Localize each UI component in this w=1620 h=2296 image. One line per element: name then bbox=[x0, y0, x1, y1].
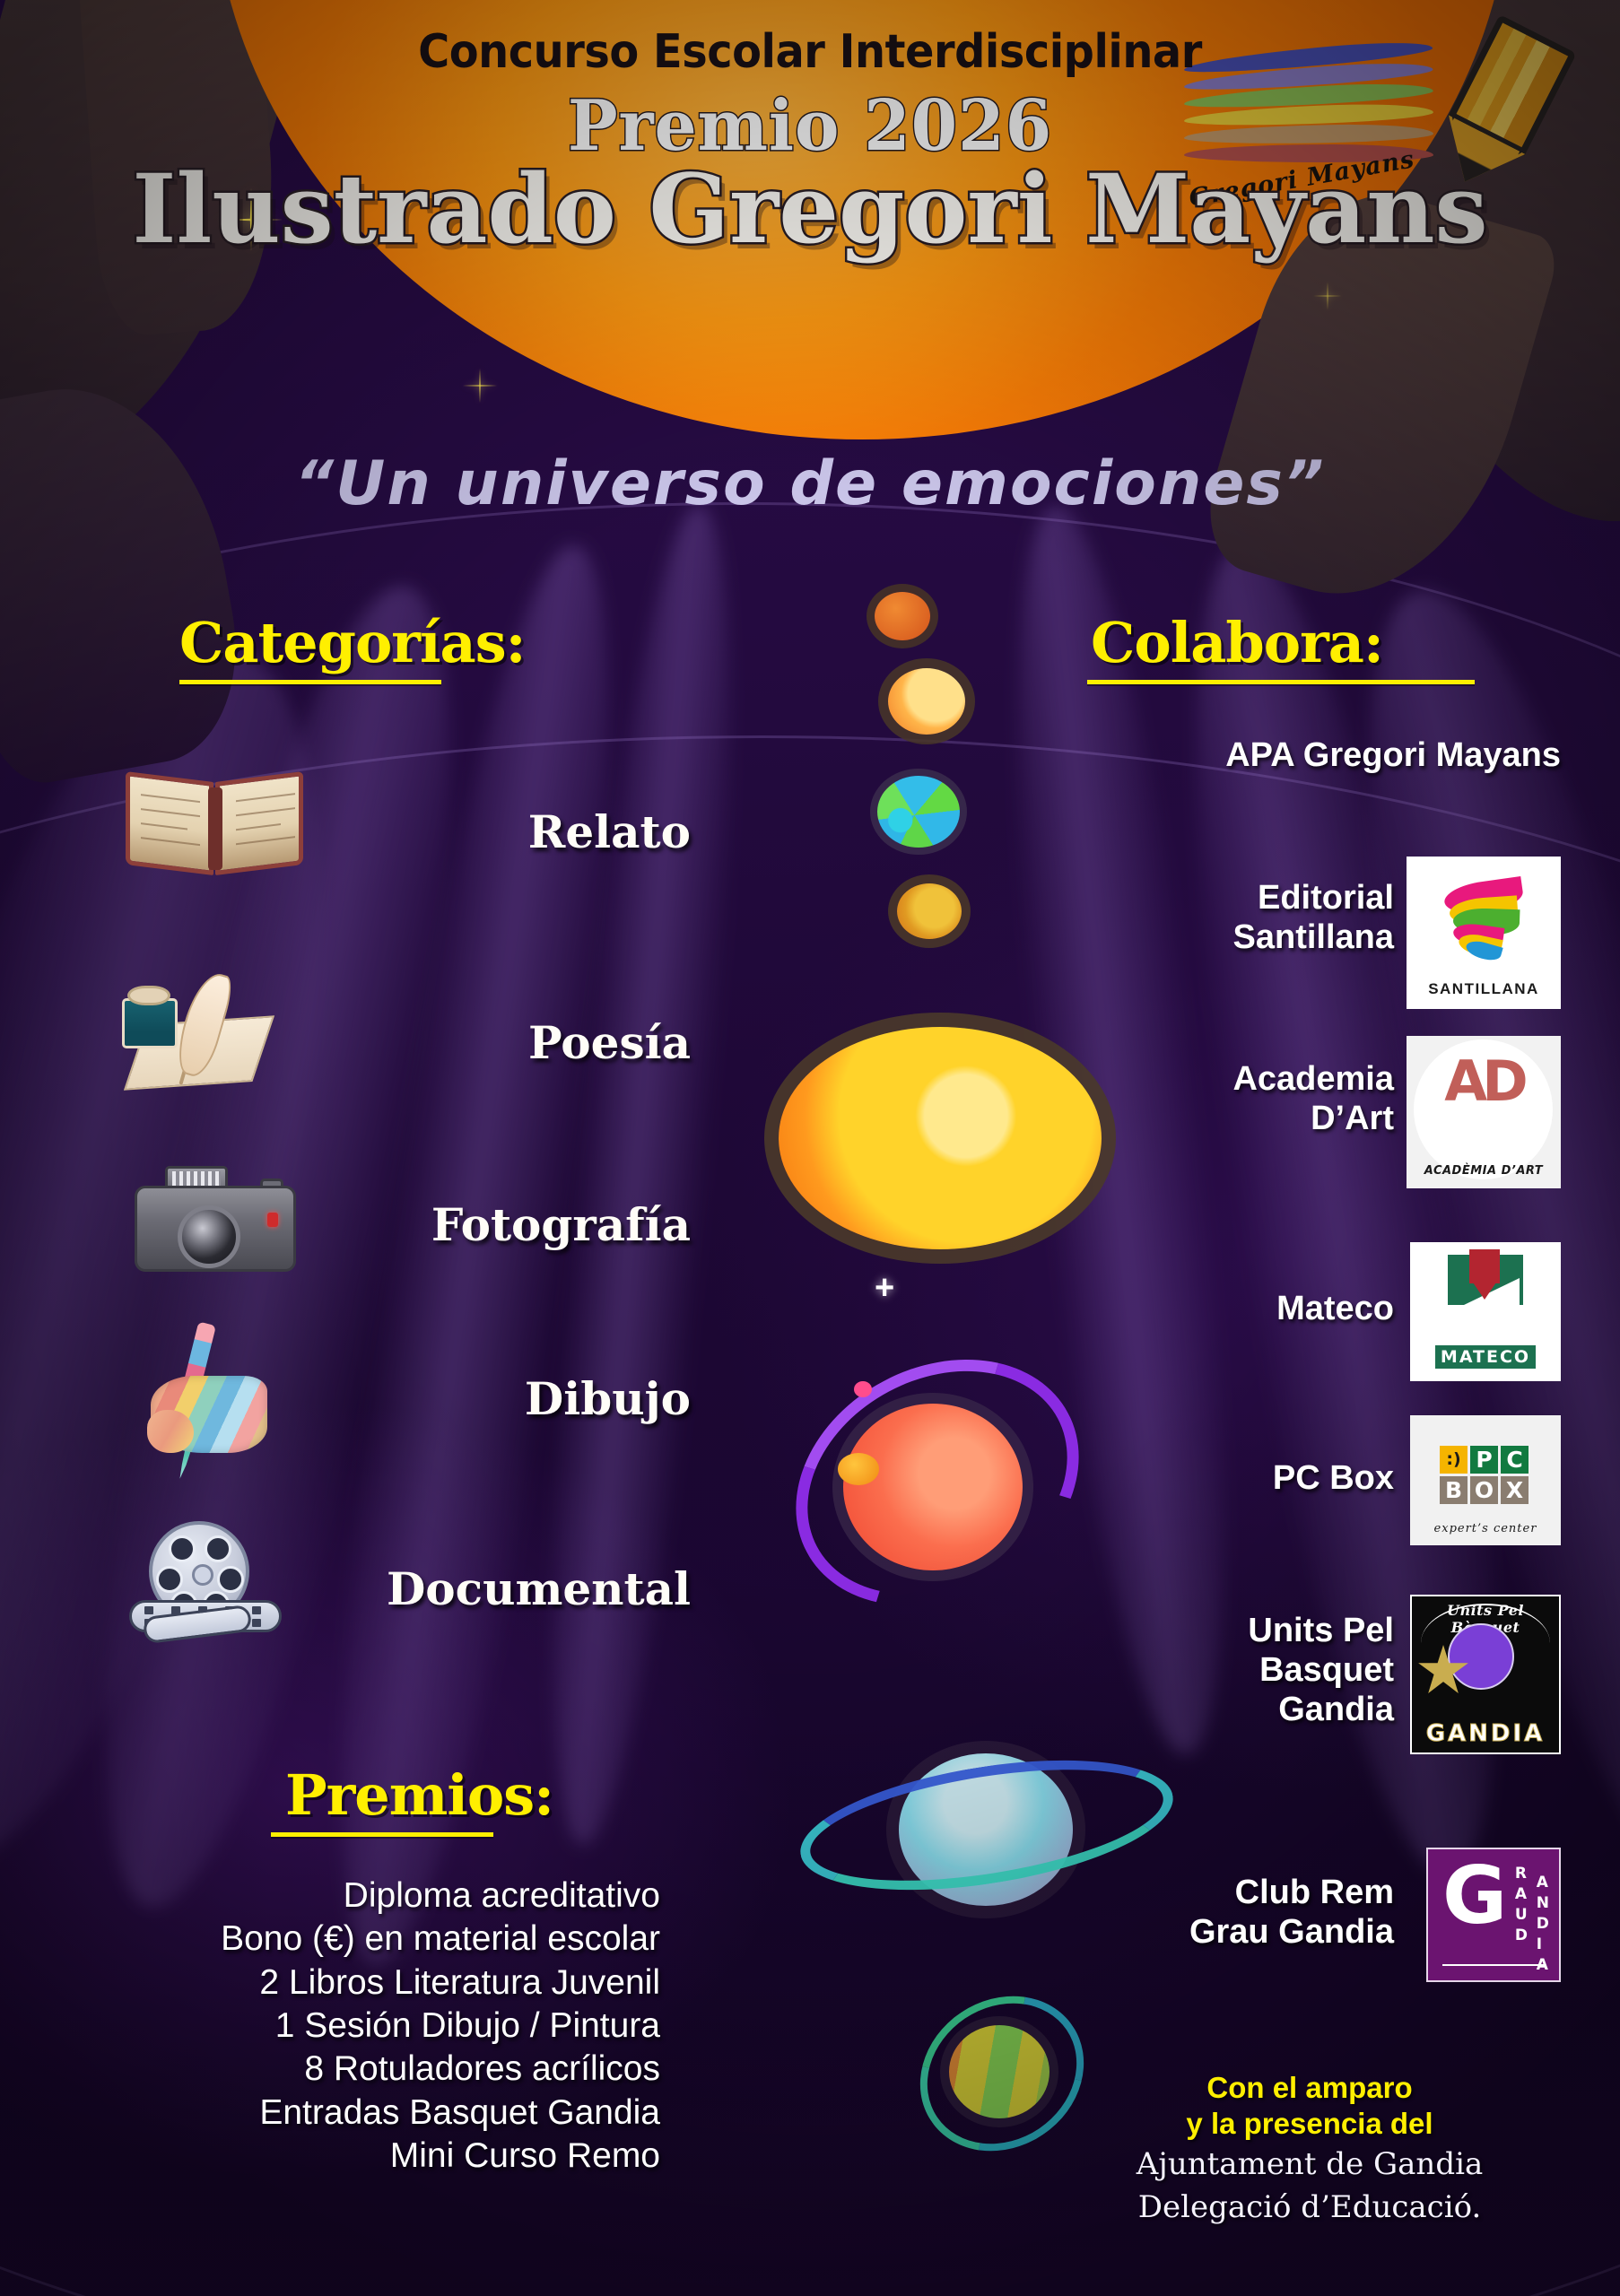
santillana-logo: SANTILLANA bbox=[1407, 857, 1561, 1009]
prize-item: 2 Libros Literatura Juvenil bbox=[54, 1961, 660, 2005]
pcbox-tagline: expert’s center bbox=[1410, 1522, 1561, 1535]
gandia-ajuntament-logo: G R A U D A N D I A bbox=[1426, 1848, 1561, 1982]
academia-dart-monogram: AD bbox=[1407, 1048, 1561, 1114]
category-item-relato[interactable]: Relato bbox=[117, 771, 691, 906]
collaborator-name: Academia D’Art bbox=[1053, 1059, 1394, 1138]
collaborator-name: Club Rem Grau Gandia bbox=[1053, 1873, 1394, 1952]
category-label: Relato bbox=[528, 805, 691, 858]
category-item-documental[interactable]: Documental bbox=[117, 1516, 691, 1668]
gandia-column-1: R A U D bbox=[1515, 1864, 1529, 1946]
poster-canvas: Gregori Mayans Concurso Escolar Interdis… bbox=[0, 0, 1620, 2296]
pcbox-letter-c: C bbox=[1501, 1446, 1529, 1474]
collaborator-name: PC Box bbox=[1053, 1458, 1394, 1498]
category-label: Documental bbox=[387, 1562, 691, 1615]
footer-support-line-2: y la presencia del bbox=[1032, 2106, 1588, 2142]
academia-dart-wordmark: ACADÈMIA D’ART bbox=[1407, 1164, 1561, 1178]
collaborator-name: Mateco bbox=[1053, 1289, 1394, 1328]
gandia-column-2: A N D I A bbox=[1537, 1873, 1550, 1976]
collaborator-item-pcbox[interactable]: PC Box :) P C B O X expert’s center bbox=[1058, 1415, 1561, 1550]
category-item-poesia[interactable]: Poesía bbox=[117, 973, 691, 1108]
footer-support-line-1: Con el amparo bbox=[1032, 2070, 1588, 2106]
collaborator-name: Editorial Santillana bbox=[1053, 878, 1394, 957]
prize-item: Bono (€) en material escolar bbox=[54, 1918, 660, 1961]
pcbox-letter-b: B bbox=[1440, 1476, 1468, 1504]
collaborator-item-club-rem[interactable]: Club Rem Grau Gandia G R A U D A N D I A bbox=[1058, 1848, 1561, 1987]
collaborator-item-apa[interactable]: APA Gregori Mayans bbox=[1058, 735, 1561, 789]
prize-item: Mini Curso Remo bbox=[54, 2135, 660, 2178]
units-pel-basquet-gandia-logo: Units Pel Bàsquet GANDIA bbox=[1410, 1595, 1561, 1754]
mateco-wordmark: MATECO bbox=[1435, 1345, 1536, 1369]
prize-item: 1 Sesión Dibujo / Pintura bbox=[54, 2005, 660, 2048]
camera-icon bbox=[135, 1166, 296, 1274]
prizes-list: Diploma acreditativo Bono (€) en materia… bbox=[54, 1874, 660, 2179]
collaborator-item-units-pel-basquet[interactable]: Units Pel Basquet Gandia Units Pel Bàsqu… bbox=[1058, 1595, 1561, 1756]
collaborator-item-mateco[interactable]: Mateco MATECO bbox=[1058, 1242, 1561, 1386]
pcbox-letter-o: O bbox=[1470, 1476, 1498, 1504]
quill-and-inkwell-icon bbox=[120, 973, 300, 1090]
collaborator-item-academia-dart[interactable]: Academia D’Art AD ACADÈMIA D’ART bbox=[1058, 1036, 1561, 1188]
collaborator-name: APA Gregori Mayans bbox=[1058, 735, 1561, 775]
collaborator-name: Units Pel Basquet Gandia bbox=[1053, 1611, 1394, 1729]
pcbox-letter-x: X bbox=[1501, 1476, 1529, 1504]
categories-heading-rule bbox=[179, 680, 441, 684]
pcbox-letter-p: P bbox=[1470, 1446, 1498, 1474]
collaborators-heading: Colabora: bbox=[1091, 610, 1383, 675]
category-label: Poesía bbox=[528, 1016, 691, 1069]
academia-dart-logo: AD ACADÈMIA D’ART bbox=[1407, 1036, 1561, 1188]
santillana-wordmark: SANTILLANA bbox=[1407, 980, 1561, 998]
category-label: Dibujo bbox=[525, 1372, 691, 1425]
footer-organization-line-2: Delegació d’Educació. bbox=[1032, 2188, 1588, 2227]
prize-item: 8 Rotuladores acrílicos bbox=[54, 2048, 660, 2091]
prize-item: Entradas Basquet Gandia bbox=[54, 2092, 660, 2135]
categories-heading: Categorías: bbox=[179, 610, 526, 675]
category-item-fotografia[interactable]: Fotografía bbox=[117, 1157, 691, 1291]
painting-hand-icon bbox=[144, 1327, 296, 1471]
collaborator-item-santillana[interactable]: Editorial Santillana SANTILLANA bbox=[1058, 857, 1561, 1009]
collaborators-heading-rule bbox=[1087, 680, 1475, 684]
pcbox-logo: :) P C B O X expert’s center bbox=[1410, 1415, 1561, 1545]
gandia-letter-g: G bbox=[1442, 1862, 1507, 1930]
prize-item: Diploma acreditativo bbox=[54, 1874, 660, 1918]
category-item-dibujo[interactable]: Dibujo bbox=[117, 1318, 691, 1480]
prizes-heading-rule bbox=[271, 1832, 493, 1837]
film-reel-icon bbox=[129, 1521, 282, 1638]
prizes-heading: Premios: bbox=[285, 1762, 553, 1828]
footer-organization-line-1: Ajuntament de Gandia bbox=[1032, 2145, 1588, 2184]
mateco-logo: MATECO bbox=[1410, 1242, 1561, 1381]
open-book-icon bbox=[126, 777, 305, 875]
basquet-bottom-text: GANDIA bbox=[1412, 1720, 1559, 1747]
category-label: Fotografía bbox=[431, 1198, 691, 1251]
